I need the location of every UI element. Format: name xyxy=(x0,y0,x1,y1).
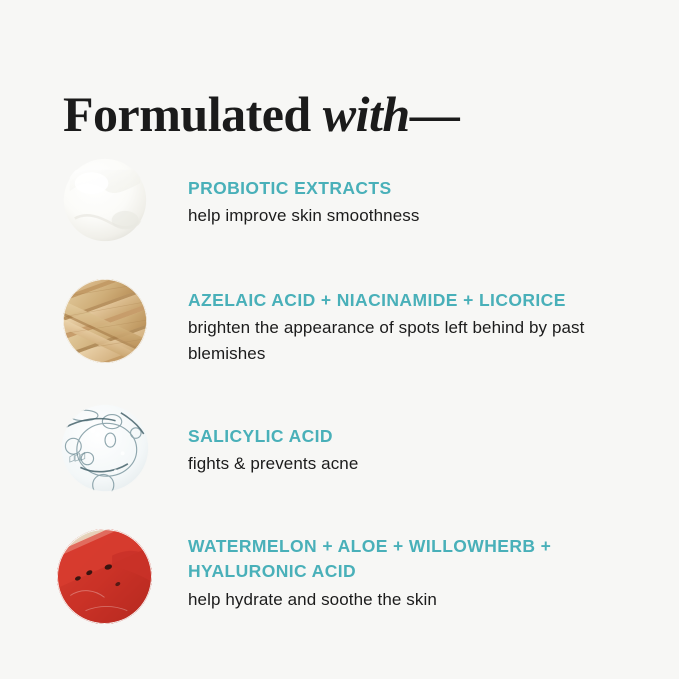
ingredient-description: help hydrate and soothe the skin xyxy=(188,587,638,613)
ingredient-description: fights & prevents acne xyxy=(188,451,638,477)
ingredient-copy-probiotic: PROBIOTIC EXTRACTS help improve skin smo… xyxy=(188,176,638,229)
watermelon-slice-thumbnail xyxy=(57,529,152,624)
ingredient-title: AZELAIC ACID + NIACINAMIDE + LICORICE xyxy=(188,288,638,313)
probiotic-cream-dollop-thumbnail xyxy=(63,158,147,242)
ingredient-description: brighten the appearance of spots left be… xyxy=(188,315,638,367)
ingredient-title: PROBIOTIC EXTRACTS xyxy=(188,176,638,201)
page-title-prefix: Formulated xyxy=(63,86,323,142)
licorice-root-sticks-thumbnail xyxy=(63,279,147,363)
ingredient-title: SALICYLIC ACID xyxy=(188,424,638,449)
ingredient-description: help improve skin smoothness xyxy=(188,203,638,229)
ingredient-title: WATERMELON + ALOE + WILLOWHERB + HYALURO… xyxy=(188,534,638,585)
ingredient-copy-azelaic-niacinamide-licorice: AZELAIC ACID + NIACINAMIDE + LICORICE br… xyxy=(188,288,638,367)
ingredient-copy-salicylic: SALICYLIC ACID fights & prevents acne xyxy=(188,424,638,477)
page-title-suffix: — xyxy=(410,86,459,142)
formulated-with-panel: Formulated with— xyxy=(0,0,679,679)
page-title-emphasis: with xyxy=(323,86,410,142)
ingredient-copy-watermelon: WATERMELON + ALOE + WILLOWHERB + HYALURO… xyxy=(188,534,638,613)
salicylic-gel-bubbles-thumbnail xyxy=(61,404,149,492)
page-title: Formulated with— xyxy=(63,89,459,139)
